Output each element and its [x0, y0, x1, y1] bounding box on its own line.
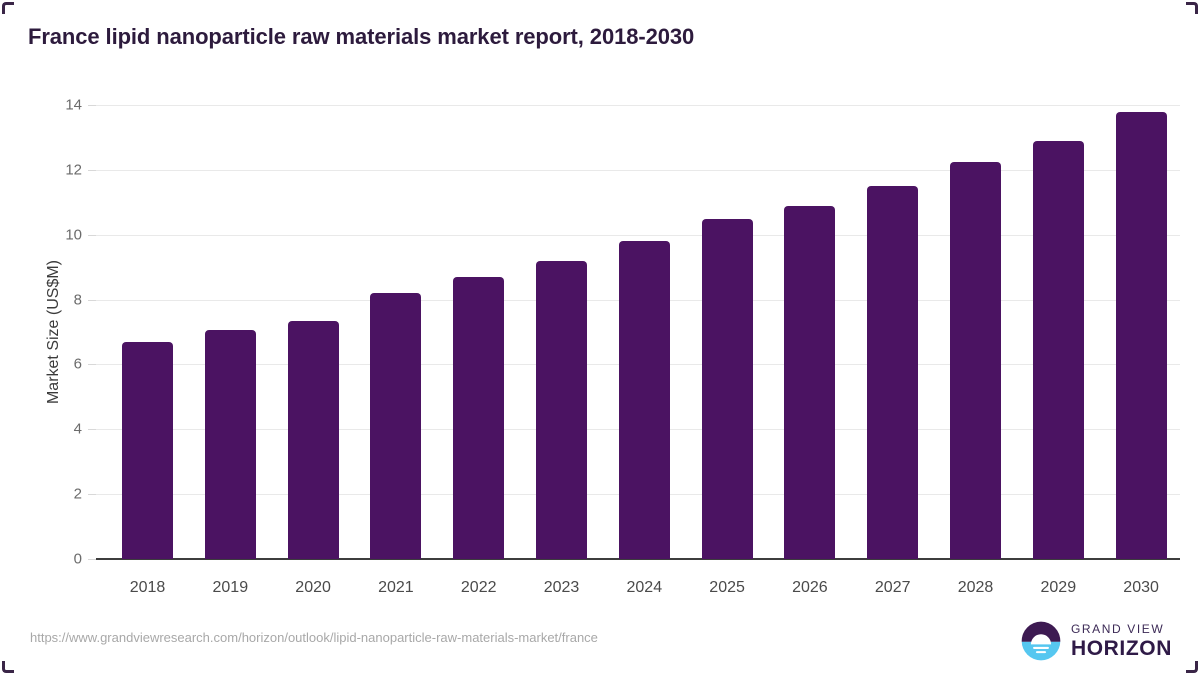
bar[interactable]: [619, 241, 670, 559]
bar[interactable]: [1116, 112, 1167, 560]
chart-canvas: France lipid nanoparticle raw materials …: [0, 0, 1200, 675]
frame-corner-bottom-right: [1186, 661, 1198, 673]
x-axis-tick-label: 2026: [765, 579, 855, 597]
logo-text-horizon: HORIZON: [1071, 638, 1172, 659]
bar[interactable]: [453, 277, 504, 559]
x-axis-tick-label: 2028: [931, 579, 1021, 597]
bar[interactable]: [702, 219, 753, 560]
x-axis-tick-label: 2019: [185, 579, 275, 597]
bar[interactable]: [1033, 141, 1084, 559]
x-axis-tick-label: 2024: [599, 579, 689, 597]
grand-view-horizon-logo[interactable]: GRAND VIEW HORIZON: [1020, 620, 1172, 662]
y-axis-tick-label: 0: [30, 551, 82, 568]
y-axis-tick-mark: [88, 494, 96, 495]
x-axis-tick-label: 2025: [682, 579, 772, 597]
frame-corner-top-right: [1186, 2, 1198, 14]
y-axis-tick-mark: [88, 105, 96, 106]
x-axis-tick-label: 2030: [1096, 579, 1186, 597]
y-axis-tick-mark: [88, 429, 96, 430]
plot-area: 2018201920202021202220232024202520262027…: [96, 105, 1180, 559]
y-axis-tick-label: 2: [30, 486, 82, 503]
x-axis-tick-label: 2029: [1013, 579, 1103, 597]
x-axis-tick-label: 2023: [517, 579, 607, 597]
bar-series: [96, 105, 1180, 559]
bar[interactable]: [784, 206, 835, 559]
x-axis-tick-label: 2018: [103, 579, 193, 597]
logo-text-grand-view: GRAND VIEW: [1071, 623, 1172, 635]
bar[interactable]: [867, 186, 918, 559]
bar[interactable]: [205, 330, 256, 559]
y-axis-tick-mark: [88, 364, 96, 365]
frame-corner-top-left: [2, 2, 14, 14]
x-axis-tick-label: 2027: [848, 579, 938, 597]
source-url[interactable]: https://www.grandviewresearch.com/horizo…: [30, 630, 598, 645]
y-axis-tick-mark: [88, 559, 96, 560]
bar[interactable]: [950, 162, 1001, 559]
x-axis-tick-label: 2020: [268, 579, 358, 597]
logo-wordmark: GRAND VIEW HORIZON: [1071, 623, 1172, 659]
x-axis-tick-label: 2021: [351, 579, 441, 597]
y-axis-tick-label: 4: [30, 421, 82, 438]
y-axis-tick-label: 14: [30, 97, 82, 114]
y-axis-tick-mark: [88, 300, 96, 301]
frame-corner-bottom-left: [2, 661, 14, 673]
bar[interactable]: [122, 342, 173, 559]
y-axis-tick-mark: [88, 235, 96, 236]
y-axis-tick-label: 12: [30, 161, 82, 178]
y-axis-tick-label: 10: [30, 226, 82, 243]
y-axis-tick-mark: [88, 170, 96, 171]
bar[interactable]: [288, 321, 339, 559]
x-axis-tick-label: 2022: [434, 579, 524, 597]
y-axis-title-label: Market Size (US$M): [45, 260, 63, 404]
bar[interactable]: [370, 293, 421, 559]
y-axis-tick-label: 6: [30, 356, 82, 373]
bar[interactable]: [536, 261, 587, 559]
y-axis-tick-label: 8: [30, 291, 82, 308]
sunrise-circle-icon: [1020, 620, 1062, 662]
chart-title: France lipid nanoparticle raw materials …: [28, 24, 694, 50]
